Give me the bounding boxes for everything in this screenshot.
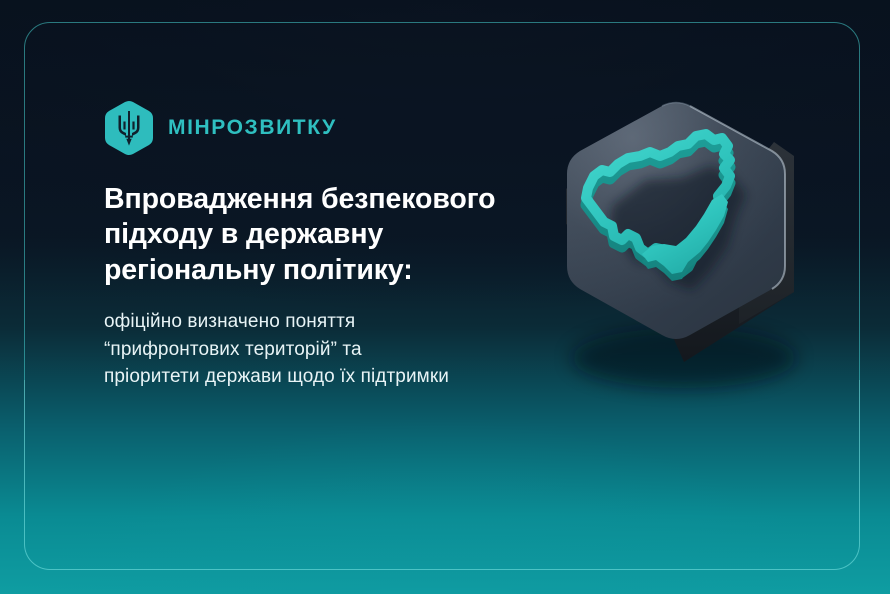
content-block: МІНРОЗВИТКУ Впровадження безпекового під… — [104, 100, 534, 391]
ukraine-trident-hexagon-icon — [104, 100, 154, 156]
subhead-line-1: офіційно визначено поняття — [104, 308, 534, 336]
brand-name: МІНРОЗВИТКУ — [168, 116, 337, 140]
ukraine-map-3d-hexagon-icon — [536, 96, 836, 386]
page-title: Впровадження безпекового підходу в держа… — [104, 182, 534, 288]
headline-line-2: підходу в державну — [104, 217, 534, 252]
page-subtitle: офіційно визначено поняття “прифронтових… — [104, 308, 534, 391]
poster-canvas: МІНРОЗВИТКУ Впровадження безпекового під… — [0, 0, 890, 594]
brand-lockup: МІНРОЗВИТКУ — [104, 100, 534, 156]
subhead-line-2: “прифронтових територій” та — [104, 336, 534, 364]
subhead-line-3: пріоритети держави щодо їх підтримки — [104, 363, 534, 391]
headline-line-1: Впровадження безпекового — [104, 182, 534, 217]
decorative-frame-border-lower — [24, 380, 860, 570]
headline-line-3: регіональну політику: — [104, 253, 534, 288]
